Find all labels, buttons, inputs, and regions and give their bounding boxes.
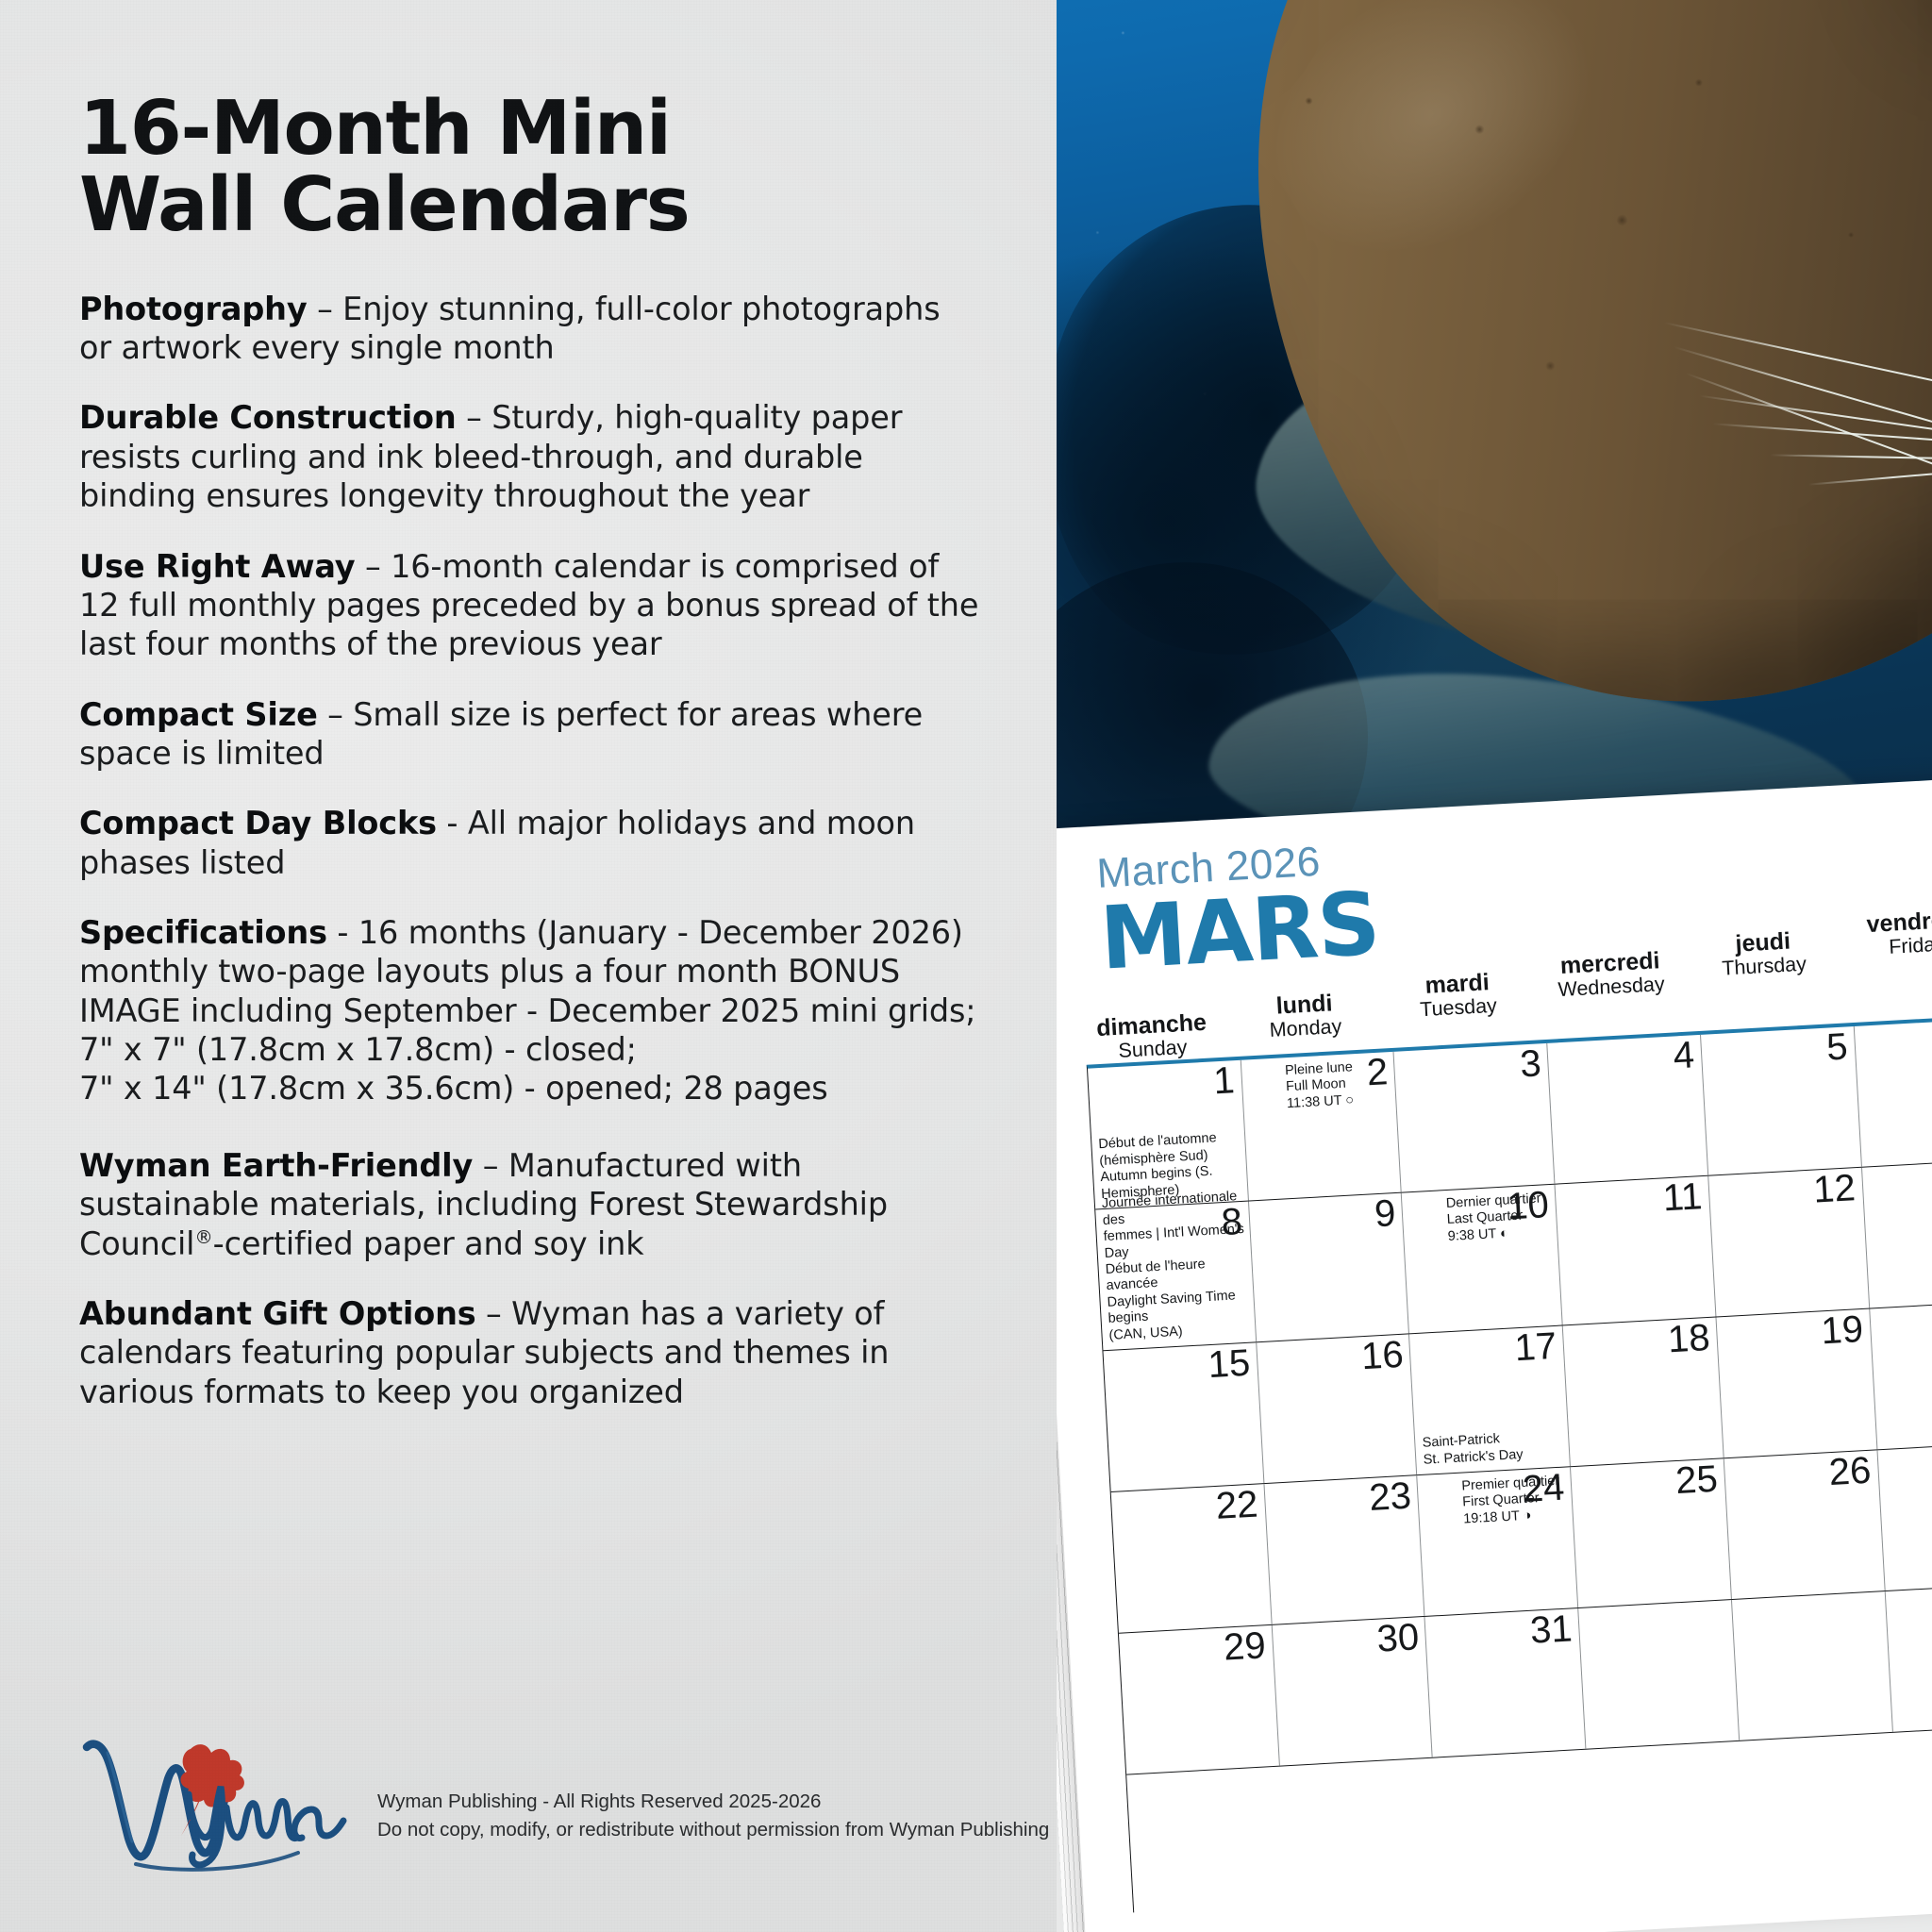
feature-title: Specifications (79, 914, 327, 951)
copyright-line-2: Do not copy, modify, or redistribute wit… (377, 1816, 1049, 1845)
calendar-day-cell[interactable]: 12 (1708, 1168, 1870, 1317)
wyman-logo-svg (79, 1732, 353, 1874)
feature-title: Use Right Away (79, 548, 356, 585)
day-header-thursday: jeudiThursday (1682, 925, 1845, 983)
day-number: 12 (1812, 1169, 1857, 1208)
day-number: 23 (1368, 1477, 1412, 1517)
footer: Wyman Publishing - All Rights Reserved 2… (79, 1732, 1049, 1874)
registered-trademark-symbol: ® (194, 1225, 212, 1247)
day-header-tuesday: mardiTuesday (1376, 966, 1540, 1024)
day-header-wednesday: mercrediWednesday (1529, 945, 1692, 1003)
copyright-notice: Wyman Publishing - All Rights Reserved 2… (377, 1788, 1049, 1874)
calendar-grid-page: March 2026 MARS dimancheSundaylundiMonda… (1024, 778, 1932, 1932)
calendar-day-cell[interactable]: 4 (1547, 1035, 1708, 1184)
feature-title: Compact Day Blocks (79, 805, 437, 841)
title-line-2: Wall Calendars (79, 167, 1057, 243)
calendar-day-cell[interactable]: 31 (1425, 1608, 1587, 1757)
day-number: 3 (1519, 1044, 1541, 1083)
calendar-day-cell[interactable]: 15 (1103, 1342, 1264, 1491)
day-number: 30 (1376, 1618, 1421, 1657)
calendar-day-cell[interactable]: 8Journée internationale desfemmes | Int'… (1095, 1202, 1257, 1351)
day-number: 17 (1514, 1327, 1558, 1367)
feature-title: Abundant Gift Options (79, 1295, 476, 1332)
day-event-text: Journée internationale desfemmes | Int'l… (1101, 1189, 1251, 1344)
calendar-day-cell[interactable]: 25 (1571, 1458, 1732, 1607)
feature-durable-construction: Durable Construction – Sturdy, high-qual… (79, 398, 980, 515)
calendar-photo-page (1008, 0, 1932, 868)
calendar-day-cell[interactable]: 27 (1877, 1441, 1932, 1591)
calendar-day-cell[interactable]: 19 (1716, 1309, 1877, 1458)
calendar-day-cell[interactable]: 18 (1563, 1317, 1724, 1466)
calendar-day-cell[interactable]: 11 (1556, 1176, 1717, 1325)
day-number: 19 (1820, 1310, 1864, 1350)
moon-phase-text: Premier quartierFirst Quarter19:18 UT ◑ (1461, 1473, 1569, 1527)
calendar-day-cell[interactable]: 1Début de l'automne(hémisphère Sud)Autum… (1088, 1060, 1249, 1209)
feature-earth-friendly: Wyman Earth-Friendly – Manufactured with… (79, 1146, 980, 1263)
moon-phase-text: Dernier quartierLast Quarter9:38 UT ◐ (1445, 1191, 1553, 1245)
day-header-monday: lundiMonday (1224, 987, 1387, 1044)
title-line-1: 16-Month Mini (79, 91, 1057, 167)
calendar-day-cell[interactable]: 17Saint-PatrickSt. Patrick's Day (1409, 1325, 1571, 1474)
day-number: 18 (1667, 1319, 1711, 1358)
day-number: 15 (1207, 1344, 1252, 1384)
feature-specifications: Specifications - 16 months (January - De… (79, 913, 980, 1108)
day-number: 1 (1212, 1061, 1235, 1100)
wyman-logo (79, 1732, 353, 1874)
feature-use-right-away: Use Right Away – 16-month calendar is co… (79, 547, 980, 664)
page-title: 16-Month Mini Wall Calendars (79, 91, 1057, 244)
calendar-day-cell[interactable]: 6 (1854, 1018, 1932, 1167)
feature-title: Durable Construction (79, 399, 457, 436)
calendar-day-cell[interactable] (1578, 1600, 1740, 1749)
calendar-day-cell[interactable]: 3 (1394, 1043, 1556, 1192)
copyright-line-1: Wyman Publishing - All Rights Reserved 2… (377, 1788, 1049, 1817)
day-number: 4 (1673, 1036, 1695, 1074)
calendar-day-cell[interactable]: 16 (1257, 1334, 1418, 1483)
feature-gift-options: Abundant Gift Options – Wyman has a vari… (79, 1294, 980, 1411)
calendar-header: March 2026 MARS (1095, 836, 1381, 980)
calendar-day-cell[interactable]: 23 (1264, 1475, 1425, 1624)
feature-title: Compact Size (79, 696, 318, 733)
day-number: 11 (1662, 1177, 1704, 1217)
calendar-day-cell[interactable]: 20 (1870, 1301, 1932, 1450)
day-number: 31 (1529, 1609, 1574, 1649)
day-number: 26 (1828, 1452, 1873, 1491)
feature-body-line-2: 7" x 14" (17.8cm x 35.6cm) - opened; 28 … (79, 1070, 828, 1107)
calendar-day-cell[interactable]: 26 (1724, 1450, 1886, 1599)
moon-phase-text: Pleine luneFull Moon11:38 UT ○ (1285, 1058, 1392, 1112)
calendar-day-cell[interactable]: 29 (1119, 1625, 1280, 1774)
day-number: 9 (1374, 1194, 1396, 1233)
calendar-day-cell[interactable]: 24Premier quartierFirst Quarter19:18 UT … (1418, 1467, 1579, 1616)
calendar-day-cell[interactable] (1885, 1583, 1932, 1732)
calendar-grid: 1Début de l'automne(hémisphère Sud)Autum… (1087, 1006, 1932, 1912)
feature-compact-size: Compact Size – Small size is perfect for… (79, 695, 980, 774)
day-number: 25 (1674, 1460, 1719, 1500)
feature-title: Wyman Earth-Friendly (79, 1147, 473, 1184)
calendar-month-french: MARS (1098, 885, 1381, 980)
calendar-day-cell[interactable] (1732, 1591, 1893, 1740)
calendar-day-cell[interactable]: 13 (1862, 1159, 1932, 1308)
day-header-sunday: dimancheSunday (1071, 1008, 1234, 1065)
calendar-day-cell[interactable]: 2Pleine luneFull Moon11:38 UT ○ (1241, 1052, 1402, 1201)
day-header-friday: vendrediFriday (1835, 905, 1932, 962)
calendar-day-cell[interactable]: 10Dernier quartierLast Quarter9:38 UT ◐ (1402, 1185, 1563, 1334)
day-event-text: Saint-PatrickSt. Patrick's Day (1422, 1428, 1565, 1469)
day-number: 5 (1825, 1027, 1848, 1066)
feature-body-cont: -certified paper and soy ink (213, 1225, 644, 1262)
day-number: 16 (1360, 1336, 1405, 1375)
calendar-day-cell[interactable]: 5 (1701, 1026, 1862, 1175)
calendar-day-cell[interactable]: 9 (1249, 1193, 1410, 1342)
calendar-day-cell[interactable]: 30 (1272, 1617, 1433, 1766)
product-info-panel: 16-Month Mini Wall Calendars Photography… (0, 0, 1057, 1932)
sea-lion-photograph (1008, 0, 1932, 868)
product-imagery: March 2026 MARS dimancheSundaylundiMonda… (994, 0, 1932, 1932)
day-number: 22 (1215, 1486, 1259, 1525)
feature-compact-day-blocks: Compact Day Blocks - All major holidays … (79, 804, 980, 882)
calendar-day-cell[interactable]: 22 (1111, 1484, 1273, 1633)
feature-photography: Photography – Enjoy stunning, full-color… (79, 290, 980, 368)
day-number: 29 (1223, 1626, 1267, 1666)
feature-title: Photography (79, 291, 308, 327)
